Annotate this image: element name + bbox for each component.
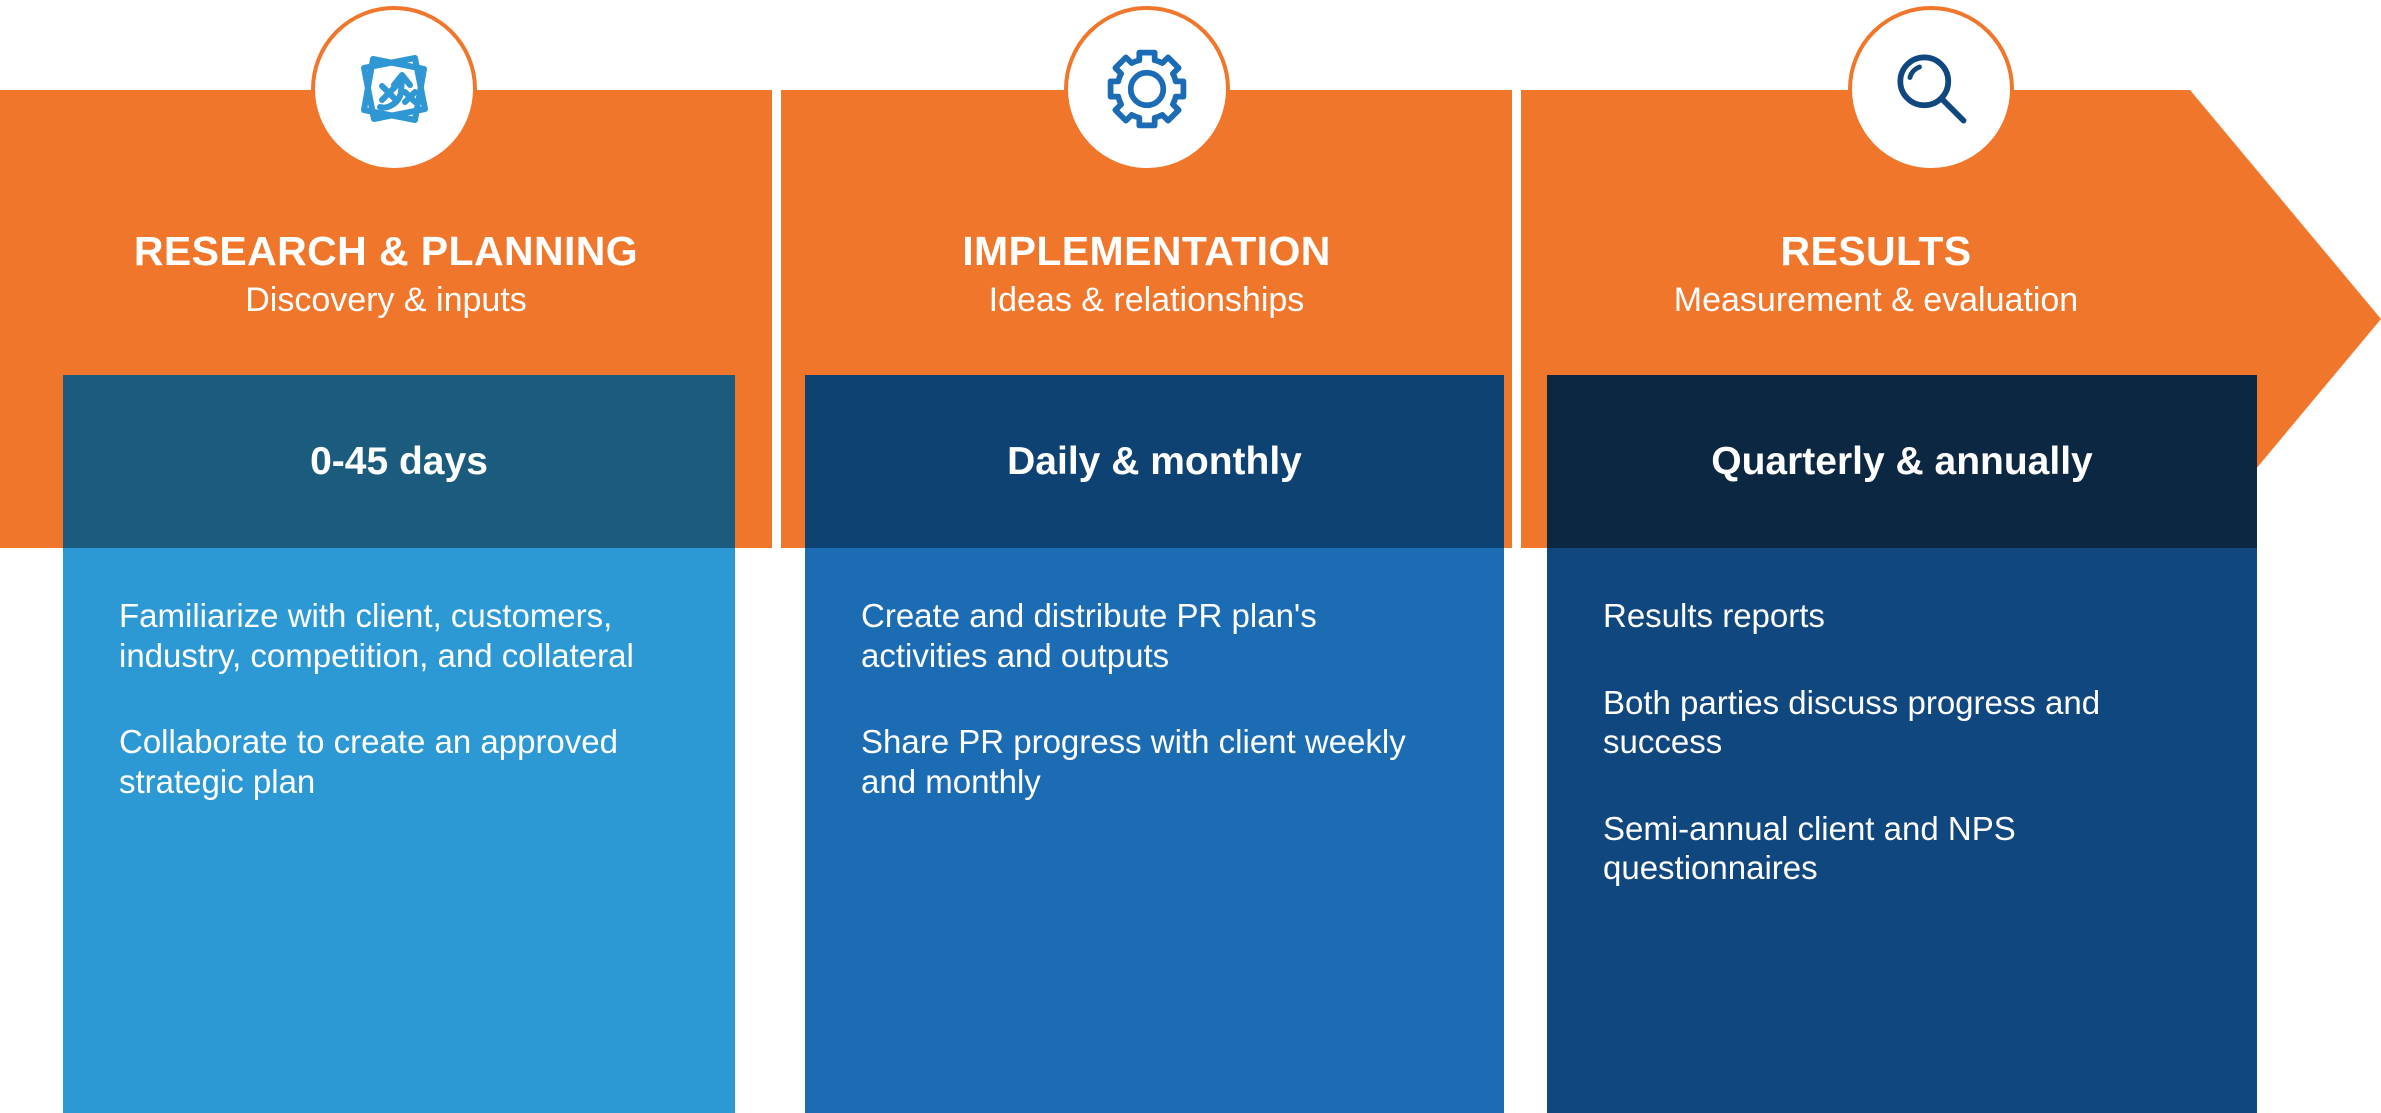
magnifying-glass-icon [1885,43,1977,135]
stage-2-timing-band: Daily & monthly [805,375,1504,548]
process-arrow-infographic: RESEARCH & PLANNING Discovery & inputs 0… [0,0,2381,1113]
stage-1-content-panel: Familiarize with client, customers, indu… [63,548,735,1113]
stage-2-icon-badge [1064,6,1230,172]
stage-2-content-panel: Create and distribute PR plan's activiti… [805,548,1504,1113]
stage-1-item-1: Familiarize with client, customers, indu… [119,596,679,675]
stage-2-timing-label: Daily & monthly [1007,440,1302,484]
stage-3-timing-band: Quarterly & annually [1547,375,2257,548]
stage-3-timing-label: Quarterly & annually [1711,440,2092,484]
gear-icon [1101,43,1193,135]
stage-1-heading: RESEARCH & PLANNING Discovery & inputs [0,230,772,319]
stage-1-item-2: Collaborate to create an approved strate… [119,722,679,801]
stage-column-implementation: IMPLEMENTATION Ideas & relationships Dai… [781,0,1512,1113]
stage-3-subtitle: Measurement & evaluation [1521,282,2231,319]
stage-3-heading: RESULTS Measurement & evaluation [1521,230,2231,319]
stage-2-item-1: Create and distribute PR plan's activiti… [861,596,1448,675]
stage-2-subtitle: Ideas & relationships [781,282,1512,319]
band-separator-2 [1512,90,1521,548]
stage-1-icon-badge [311,6,477,172]
stage-1-subtitle: Discovery & inputs [0,282,772,319]
stage-3-item-1: Results reports [1603,596,2201,636]
stage-column-research-planning: RESEARCH & PLANNING Discovery & inputs 0… [0,0,772,1113]
band-separator-1 [772,90,781,548]
stage-3-icon-badge [1848,6,2014,172]
stage-column-results: RESULTS Measurement & evaluation Quarter… [1521,0,2381,1113]
stage-3-content-panel: Results reports Both parties discuss pro… [1547,548,2257,1113]
stage-1-timing-label: 0-45 days [310,440,488,484]
stage-2-title: IMPLEMENTATION [781,230,1512,273]
stage-1-timing-band: 0-45 days [63,375,735,548]
stage-1-title: RESEARCH & PLANNING [0,230,772,273]
stage-2-item-2: Share PR progress with client weekly and… [861,722,1448,801]
stage-3-item-3: Semi-annual client and NPS questionnaire… [1603,809,2201,888]
stage-3-item-2: Both parties discuss progress and succes… [1603,683,2201,762]
strategy-playbook-icon [346,41,442,137]
stage-2-heading: IMPLEMENTATION Ideas & relationships [781,230,1512,319]
stage-3-title: RESULTS [1521,230,2231,273]
